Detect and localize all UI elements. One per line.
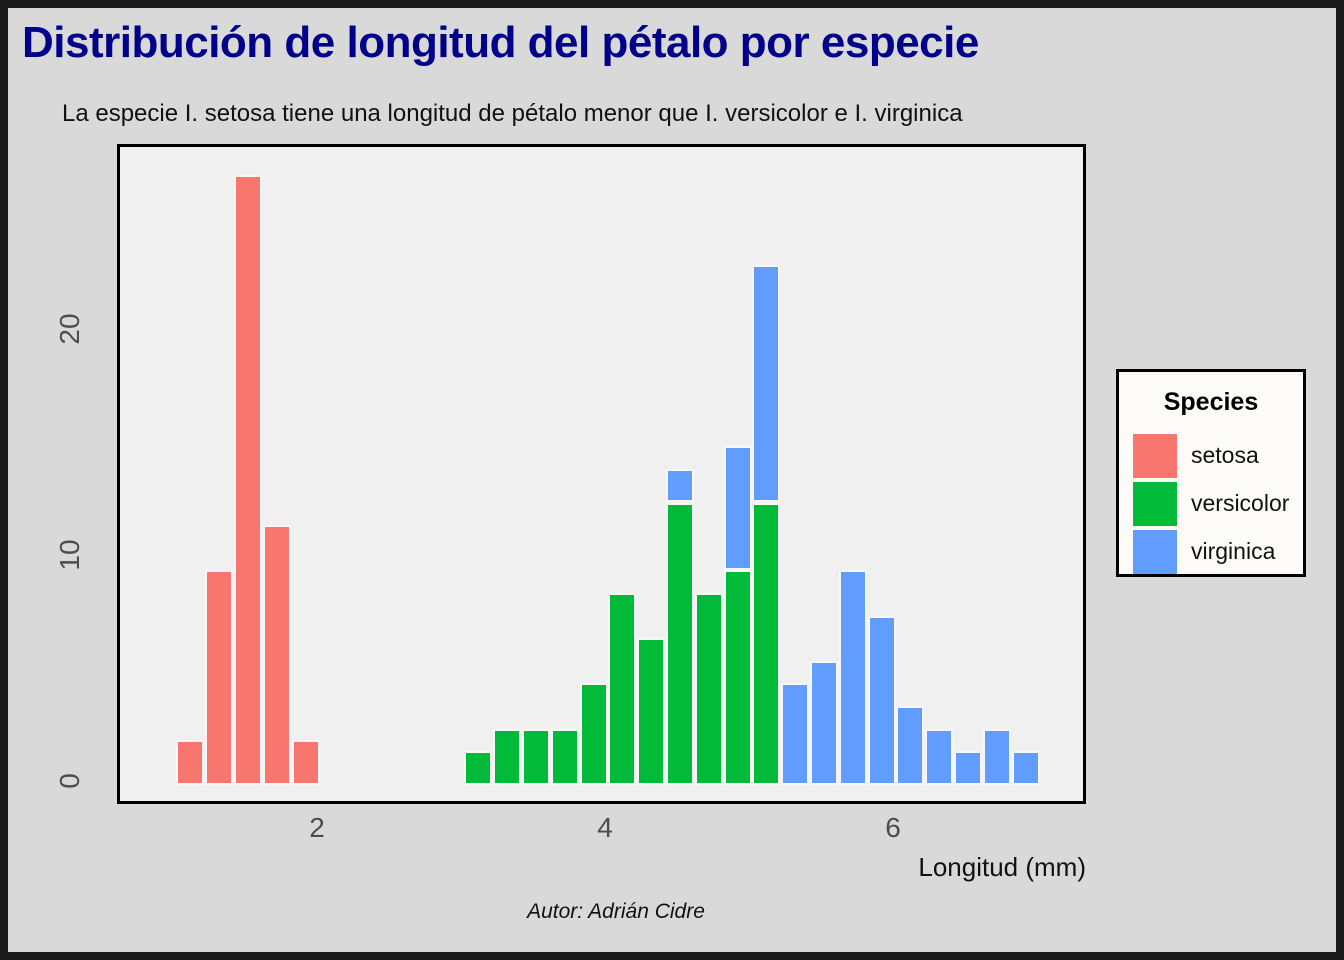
histogram-bar [724, 446, 752, 570]
histogram-bar [176, 740, 204, 785]
chart-subtitle: La especie I. setosa tiene una longitud … [62, 100, 1312, 128]
histogram-bar [896, 706, 924, 785]
y-axis-tick-20: 20 [54, 299, 86, 359]
histogram-bar [810, 661, 838, 785]
legend: Species setosaversicolorvirginica [1116, 369, 1306, 577]
histogram-bar [868, 616, 896, 786]
histogram-bar [234, 175, 262, 785]
histogram-bar [752, 503, 780, 786]
histogram-bar [493, 729, 521, 786]
y-axis-tick-10: 10 [54, 525, 86, 585]
chart-caption: Autor: Adrián Cidre [0, 900, 1232, 924]
legend-item-versicolor: versicolor [1133, 482, 1303, 526]
histogram-bar [637, 638, 665, 785]
histogram-bar [1012, 751, 1040, 785]
y-axis-label: Frecuencia [0, 21, 1, 150]
page-title: Distribución de longitud del pétalo por … [22, 18, 1322, 68]
x-axis-tick-2: 2 [287, 812, 347, 844]
histogram-bar [522, 729, 550, 786]
legend-label-versicolor: versicolor [1191, 490, 1289, 517]
histogram-bar [781, 683, 809, 785]
plot-panel [117, 144, 1086, 804]
histogram-bar [580, 683, 608, 785]
histogram-bar [839, 570, 867, 785]
histogram-bar [724, 570, 752, 785]
histogram-bar [292, 740, 320, 785]
histogram-bar [205, 570, 233, 785]
histogram-bar [752, 265, 780, 502]
x-axis-tick-6: 6 [863, 812, 923, 844]
histogram-bar [608, 593, 636, 785]
x-axis-label: Longitud (mm) [0, 852, 1086, 883]
legend-label-setosa: setosa [1191, 442, 1259, 469]
histogram-bar [263, 525, 291, 785]
legend-item-virginica: virginica [1133, 530, 1303, 574]
histogram-bar [983, 729, 1011, 786]
histogram-bar [954, 751, 982, 785]
legend-swatch-versicolor [1133, 482, 1177, 526]
y-axis-tick-0: 0 [54, 751, 86, 811]
legend-item-setosa: setosa [1133, 434, 1303, 478]
chart-canvas: Distribución de longitud del pétalo por … [0, 0, 1344, 960]
histogram-bar [666, 503, 694, 786]
histogram-bar [695, 593, 723, 785]
histogram-bar [464, 751, 492, 785]
histogram-bar [666, 469, 694, 503]
histogram-bar [551, 729, 579, 786]
histogram-bar [925, 729, 953, 786]
legend-title: Species [1119, 388, 1303, 417]
bars-container [120, 147, 1083, 801]
legend-swatch-setosa [1133, 434, 1177, 478]
x-axis-tick-4: 4 [575, 812, 635, 844]
legend-swatch-virginica [1133, 530, 1177, 574]
legend-label-virginica: virginica [1191, 538, 1275, 565]
